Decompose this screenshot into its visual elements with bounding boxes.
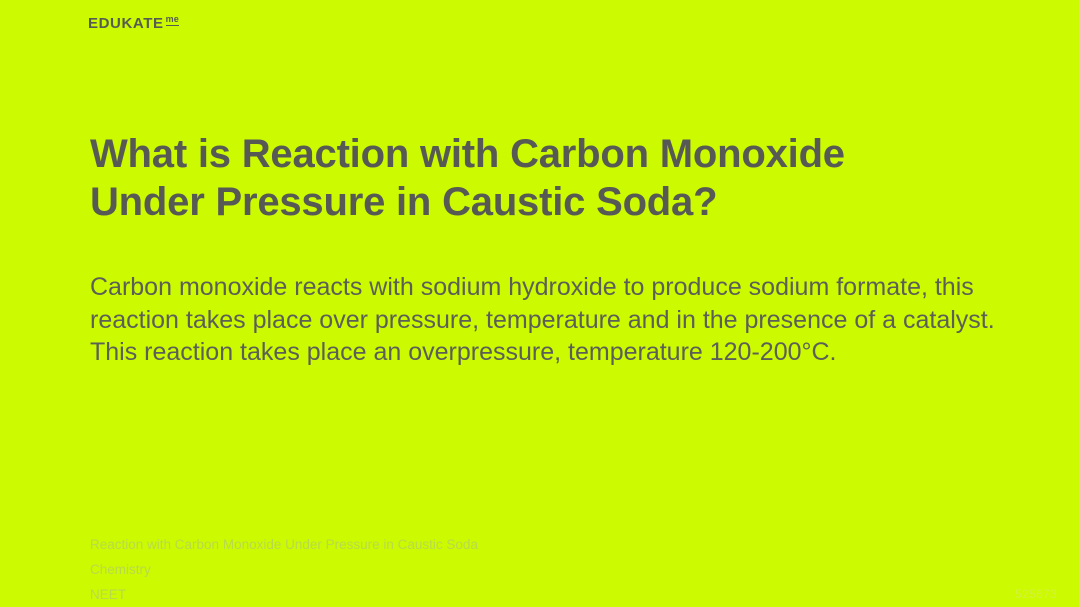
footer-topic: Reaction with Carbon Monoxide Under Pres… [90,532,790,557]
slide-footer: Reaction with Carbon Monoxide Under Pres… [90,532,790,607]
logo-wordmark: EDUKATE [88,16,164,31]
footer-exam: NEET [90,582,790,607]
slide-body-text: Carbon monoxide reacts with sodium hydro… [90,271,995,369]
slide-canvas: EDUKATE me What is Reaction with Carbon … [0,0,1079,607]
edukate-logo[interactable]: EDUKATE me [88,16,179,31]
slide-title: What is Reaction with Carbon Monoxide Un… [90,130,970,226]
watermark-id: 525673 [1015,587,1057,601]
logo-suffix: me [166,15,179,26]
footer-subject: Chemistry [90,557,790,582]
